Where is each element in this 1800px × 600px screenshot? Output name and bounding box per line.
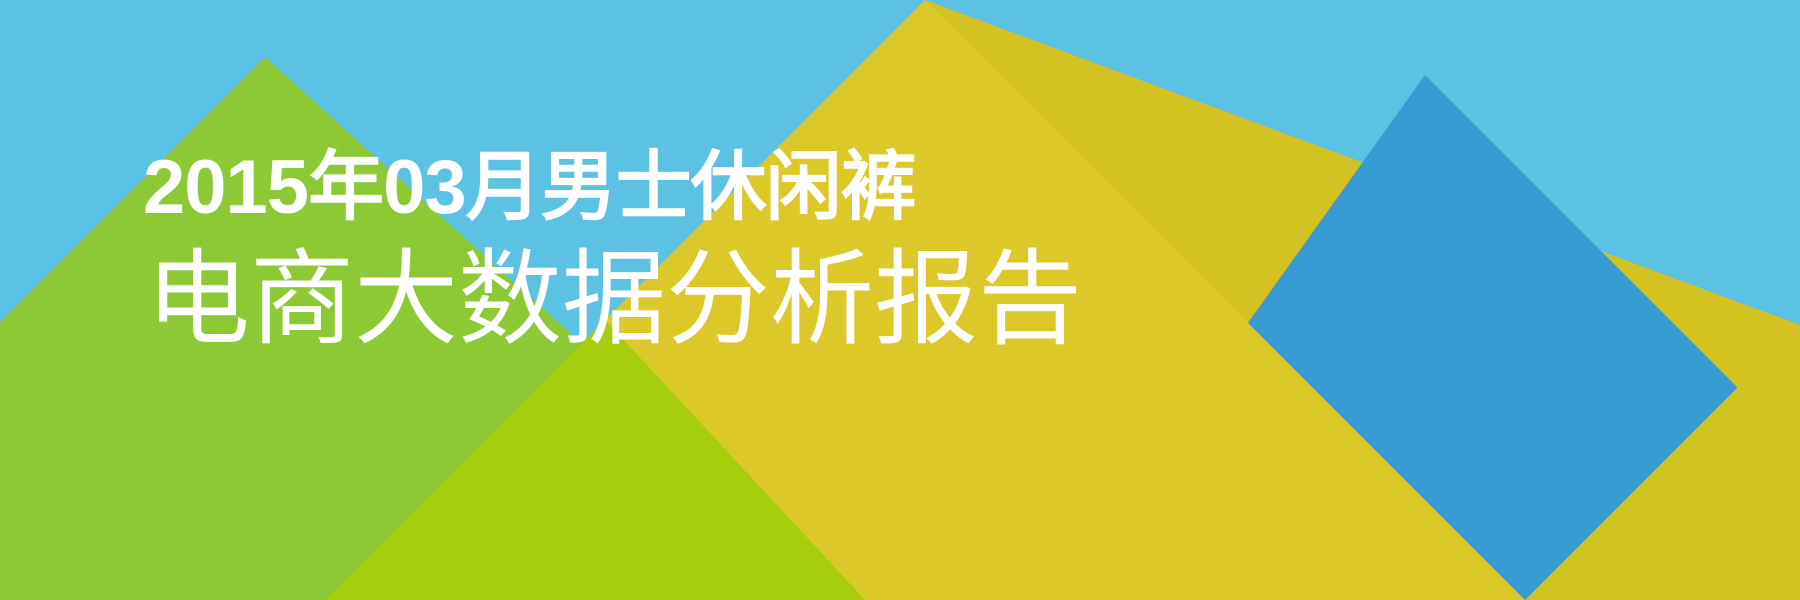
background-graphic [0,0,1800,600]
report-cover-banner: 2015年03月男士休闲裤 电商大数据分析报告 [0,0,1800,600]
